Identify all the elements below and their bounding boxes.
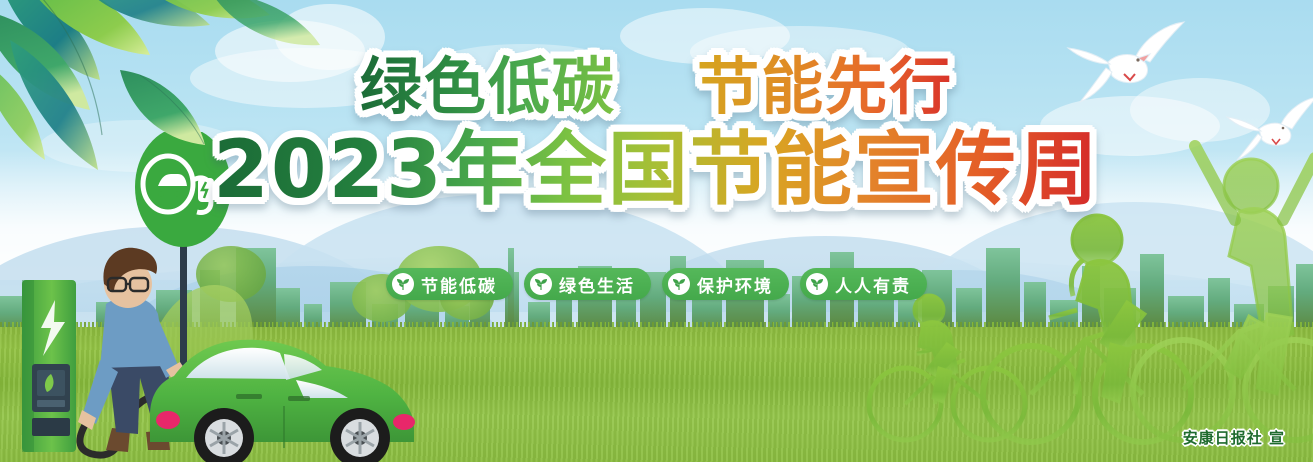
sprout-icon	[806, 273, 828, 295]
badge-renren-youze[interactable]: 人人有责	[800, 268, 927, 300]
slogan-badges: 节能低碳 绿色生活 保护环境	[0, 268, 1313, 300]
badge-label: 保护环境	[697, 272, 773, 297]
sprout-icon	[530, 273, 552, 295]
sprout-icon	[668, 273, 690, 295]
sprout-icon	[392, 273, 414, 295]
energy-week-banner: 绿色低碳 节能先行 2023年全国节能宣传周 节能低碳	[0, 0, 1313, 462]
headline-part-warm: 节能先行	[697, 50, 953, 123]
headline-line-2: 2023年全国节能宣传周	[0, 130, 1313, 210]
badge-label: 节能低碳	[421, 272, 497, 297]
headline-part-green: 绿色低碳	[360, 50, 616, 123]
badge-lvse-shenghuo[interactable]: 绿色生活	[524, 268, 651, 300]
badge-baohu-huanjing[interactable]: 保护环境	[662, 268, 789, 300]
badge-label: 人人有责	[835, 272, 911, 297]
badge-label: 绿色生活	[559, 272, 635, 297]
badge-jieneng-ditan[interactable]: 节能低碳	[386, 268, 513, 300]
title-block: 绿色低碳 节能先行 2023年全国节能宣传周	[0, 56, 1313, 210]
headline-line-1: 绿色低碳 节能先行	[0, 56, 1313, 118]
headline-line-2-text: 2023年全国节能宣传周	[213, 123, 1100, 216]
publisher-credit: 安康日报社 宣	[1183, 427, 1285, 448]
